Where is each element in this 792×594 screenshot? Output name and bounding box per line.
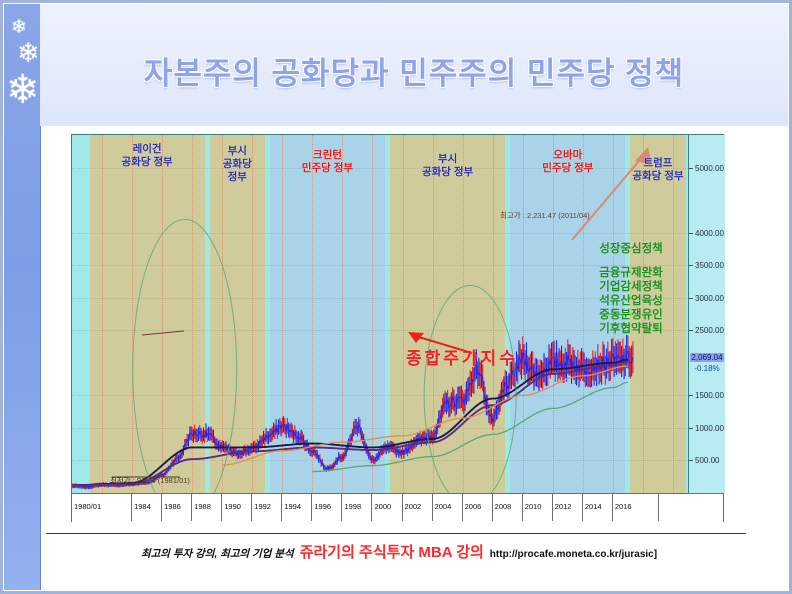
footer-brand: 쥬라기의 주식투자 MBA 강의 [300,541,484,562]
x-axis-tick-label: 1990 [222,494,252,521]
y-axis-tick-label: 1000.00 [695,424,724,433]
policy-list-item: 기업감세정책 [572,280,690,294]
x-axis-tick-label: 1998 [342,494,372,521]
y-axis-tick-label: 2500.00 [695,326,724,335]
x-axis-tick-label: 2004 [433,494,463,521]
x-axis-tick-label: 1992 [252,494,282,521]
chart-y-axis: 5000.004000.003500.003000.002500.001500.… [688,135,725,493]
x-axis-tick-label: 2014 [583,494,613,521]
annotation-leader-line [142,331,184,335]
footer-divider [46,533,746,534]
x-axis-tick-label: 1980/01 [72,494,132,521]
x-axis-tick-label: 2008 [493,494,523,521]
x-axis-tick-label: 1996 [312,494,342,521]
policy-heading: 성장중심정책 [572,240,690,256]
y-axis-tick-label: 5000.00 [695,164,724,173]
x-axis-tick-label: 1994 [282,494,312,521]
kospi-series-label: 종합주가지수 [406,344,518,369]
y-axis-tick-label: 3500.00 [695,261,724,270]
x-axis-tick-label: 1984 [132,494,162,521]
presidency-label: 오바마 민주당 정부 [508,149,628,175]
y-axis-tick-label: 3000.00 [695,294,724,303]
y-axis-tick-label: 500.00 [695,456,719,465]
footer: 최고의 투자 강의, 최고의 기업 분석 쥬라기의 주식투자 MBA 강의 ht… [46,541,752,563]
x-axis-tick-label: 1986 [162,494,192,521]
presidency-label: 트럼프 공화당 정부 [628,157,688,183]
current-price-badge: 2,069.04 [690,353,724,362]
policy-list-item: 석유산업육성 [572,294,690,308]
presidency-label: 부시 공화당 정부 [207,145,267,184]
x-axis-tick-label: 2016 [613,494,659,521]
policy-list-item: 기후협약탈퇴 [572,322,690,336]
decorative-sidebar: ❄ ❄ ❄ [4,4,41,590]
x-axis-tick-label: 2006 [463,494,493,521]
x-axis-tick-label: 2000 [372,494,402,521]
snowflake-icon: ❄ [17,40,40,67]
presidency-label: 부시 공화당 정부 [388,153,508,179]
policy-list-item: 금융규제완화 [572,266,690,280]
chart-x-axis: 1980/01198419861988199019921994199619982… [72,493,723,522]
low-price-annotation: 최저가 : 93.14 (1981/01) [110,475,190,486]
snowflake-icon: ❄ [6,70,40,110]
policy-list-item: 중동분쟁유인 [572,308,690,322]
x-axis-tick-label: 2002 [403,494,433,521]
x-axis-tick-label: 2010 [523,494,553,521]
presidency-label: 레이건 공화당 정부 [87,143,207,169]
slide-canvas: ❄ ❄ ❄ 자본주의 공화당과 민주주의 민주당 정책 레이건 공화당 정부부시… [0,0,792,594]
page-title: 자본주의 공화당과 민주주의 민주당 정책 [40,48,788,93]
x-axis-tick-label: 2012 [553,494,583,521]
presidency-label: 크린턴 민주당 정부 [267,149,387,175]
snowflake-icon: ❄ [11,18,27,37]
price-bars [72,335,633,490]
footer-url[interactable]: http://procafe.moneta.co.kr/jurasic] [490,549,657,560]
current-change-label: -0.18% [690,364,724,373]
high-price-annotation: 최고가 : 2,231.47 (2011/04) [500,210,590,221]
x-axis-tick-label: 1988 [192,494,222,521]
y-axis-tick-label: 1500.00 [695,391,724,400]
policy-list: 금융규제완화기업감세정책석유산업육성중동분쟁유인기후협약탈퇴 [572,266,690,336]
y-axis-tick-label: 4000.00 [695,229,724,238]
footer-tagline: 최고의 투자 강의, 최고의 기업 분석 [141,546,294,561]
